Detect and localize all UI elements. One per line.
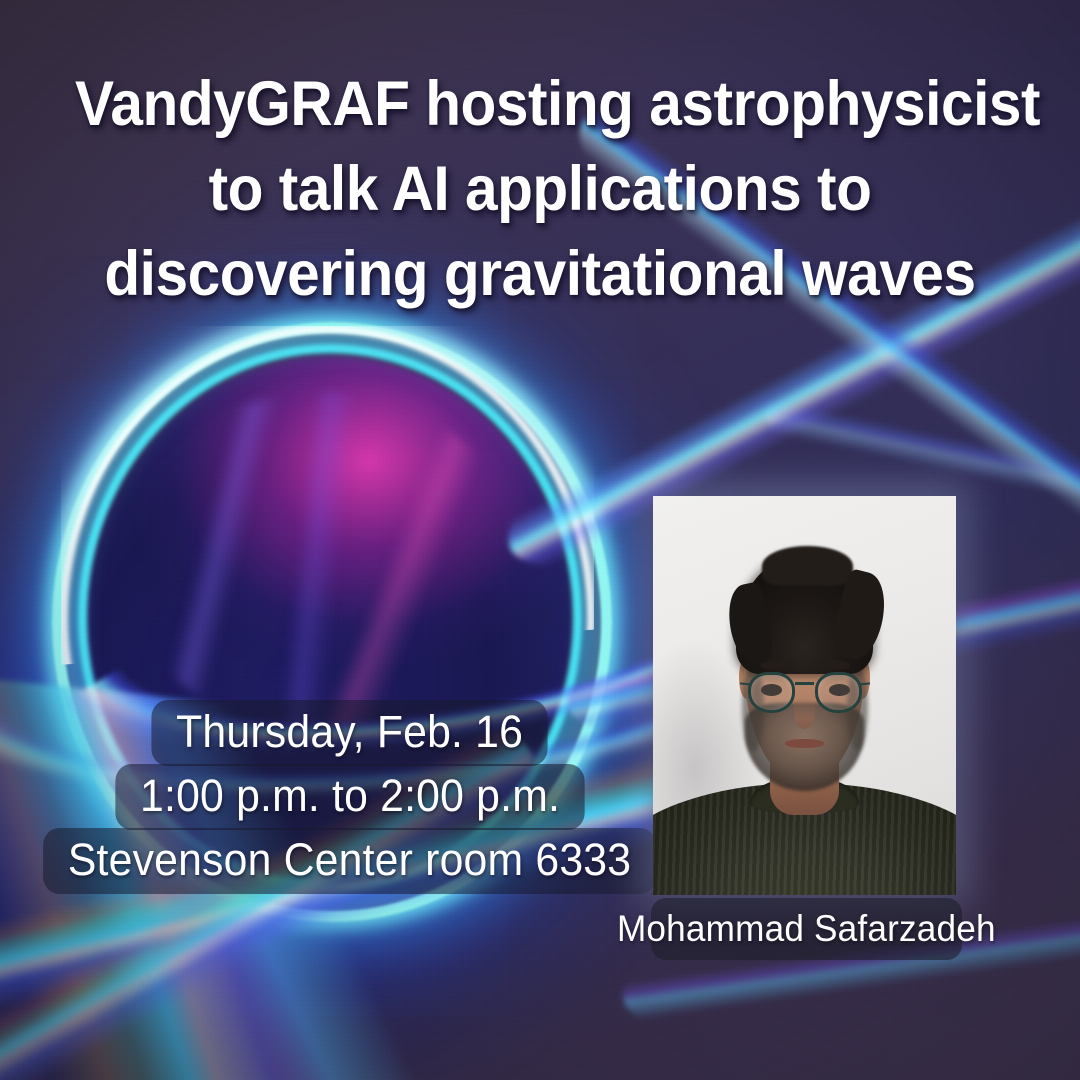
speaker-name-pill: Mohammad Safarzadeh (651, 898, 962, 960)
event-date: Thursday, Feb. 16 (152, 700, 548, 766)
portrait-eyeglass-lens-right (815, 672, 862, 714)
portrait-mouth (785, 739, 824, 748)
portrait-hair-top (762, 546, 853, 586)
headline-line-2: to talk AI applications to (75, 147, 1005, 232)
event-poster: VandyGRAF hosting astrophysicist to talk… (0, 0, 1080, 1080)
event-time: 1:00 p.m. to 2:00 p.m. (115, 764, 584, 830)
event-location: Stevenson Center room 6333 (44, 828, 657, 894)
speaker-name: Mohammad Safarzadeh (617, 909, 996, 949)
portrait-eyeglass-bridge (795, 682, 813, 692)
portrait-eyeglass-lens-left (748, 672, 795, 714)
event-details: Thursday, Feb. 16 1:00 p.m. to 2:00 p.m.… (96, 700, 604, 894)
headline-line-3: discovering gravitational waves (75, 232, 1005, 317)
headline: VandyGRAF hosting astrophysicist to talk… (38, 62, 1042, 317)
speaker-portrait (653, 496, 956, 895)
headline-line-1: VandyGRAF hosting astrophysicist (75, 62, 1005, 147)
speaker-portrait-frame (653, 496, 956, 895)
